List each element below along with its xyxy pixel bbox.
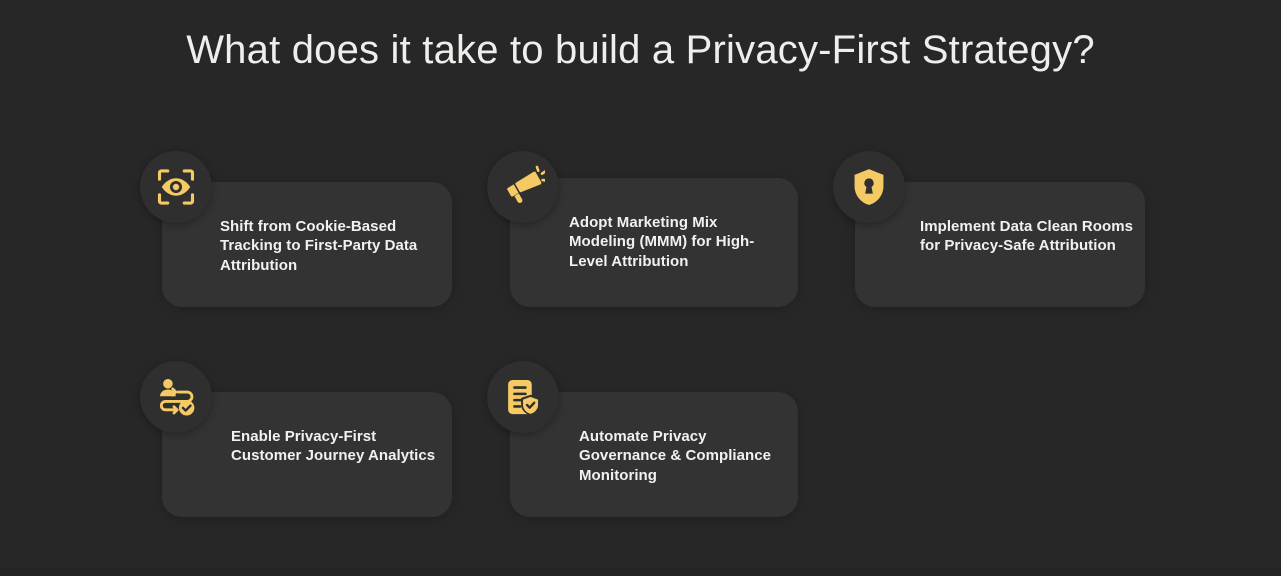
customer-journey-check-icon [154,375,198,419]
strategy-card-5-label: Automate Privacy Governance & Compliance… [579,427,794,485]
bottom-edge-band [0,568,1281,576]
eye-scan-icon [154,165,198,209]
icon-bubble-5 [487,361,559,433]
strategy-card-4-label: Enable Privacy-First Customer Journey An… [231,427,446,466]
icon-bubble-3 [833,151,905,223]
strategy-card-2-label: Adopt Marketing Mix Modeling (MMM) for H… [569,213,784,271]
shield-keyhole-icon [848,166,890,208]
document-shield-check-icon [502,376,544,418]
strategy-card-1-label: Shift from Cookie-Based Tracking to Firs… [220,217,435,275]
megaphone-icon [501,165,545,209]
icon-bubble-1 [140,151,212,223]
icon-bubble-2 [487,151,559,223]
icon-bubble-4 [140,361,212,433]
page-title: What does it take to build a Privacy-Fir… [0,28,1281,73]
strategy-card-3-label: Implement Data Clean Rooms for Privacy-S… [920,217,1135,256]
